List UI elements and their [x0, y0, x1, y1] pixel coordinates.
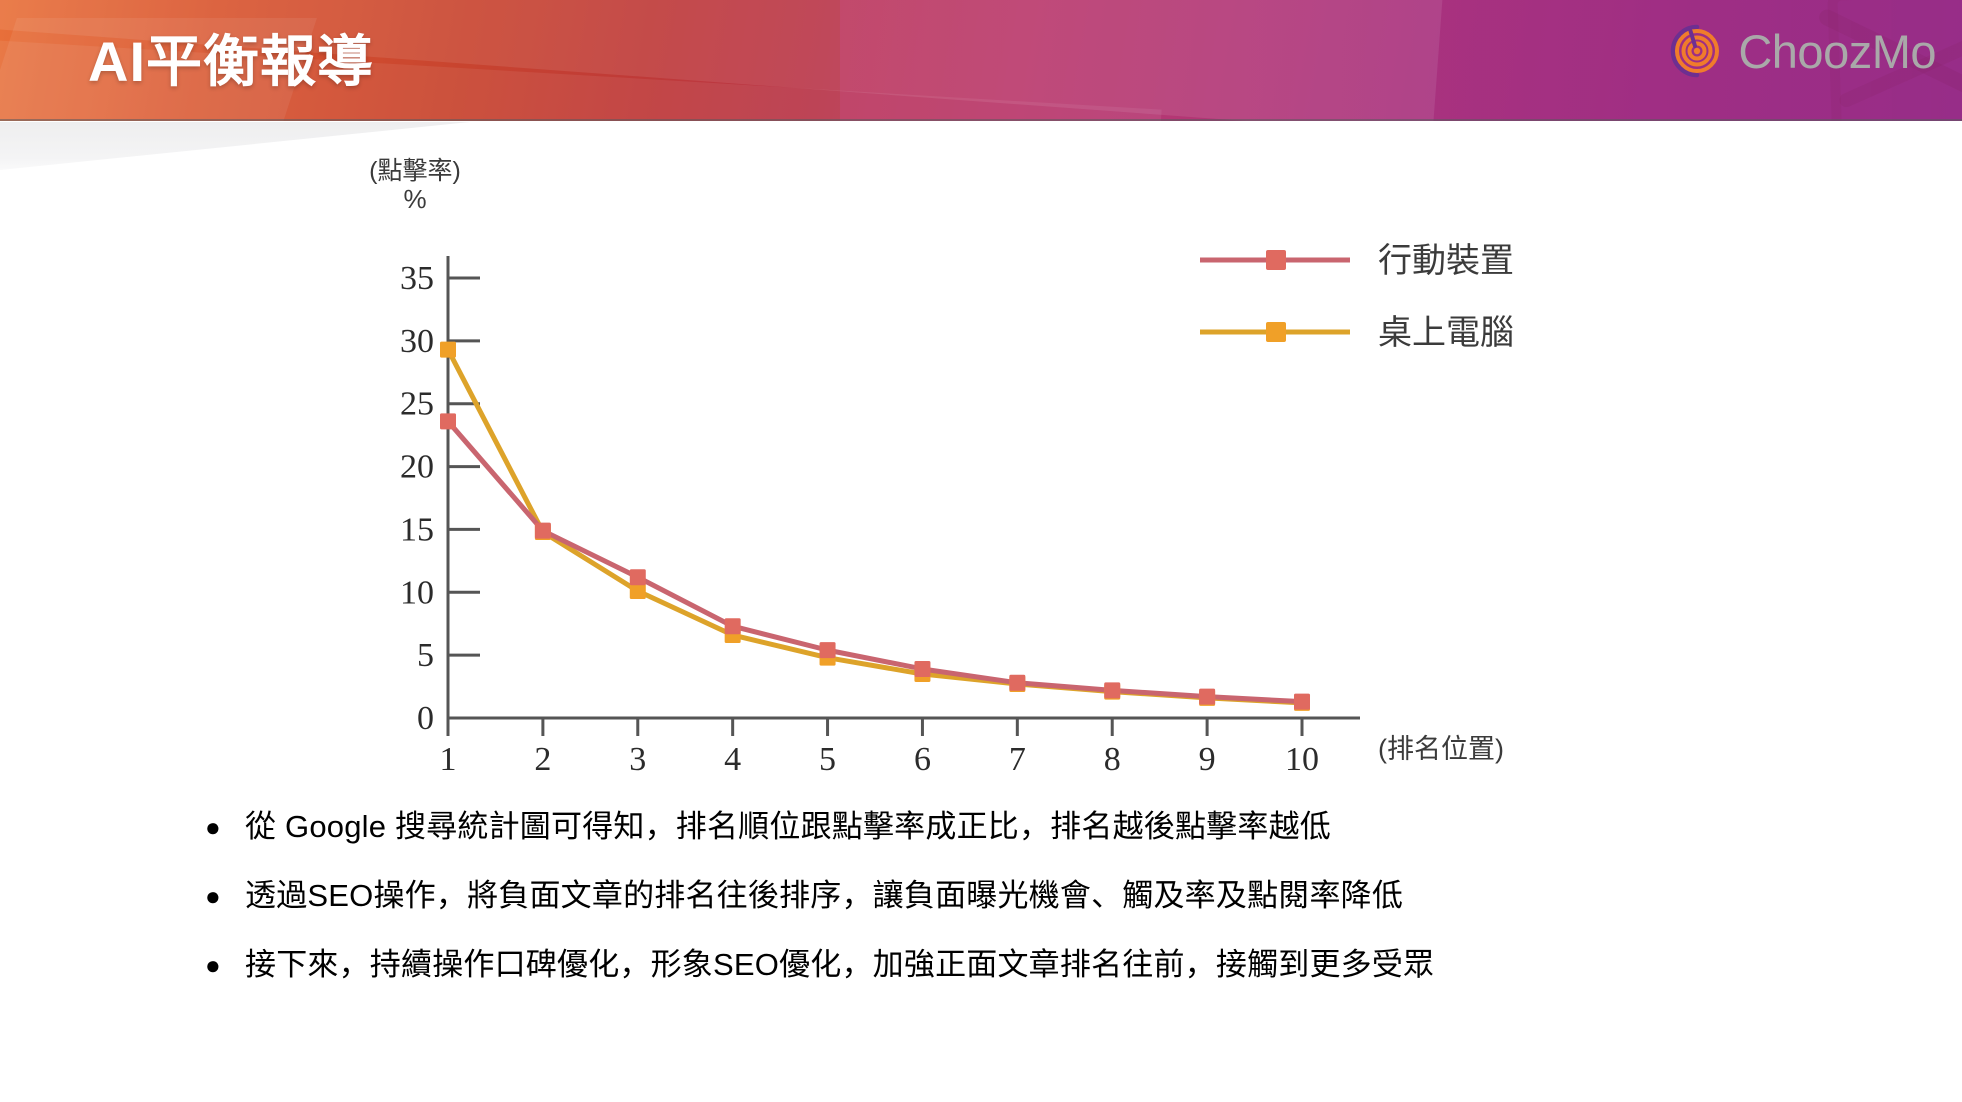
x-axis-tick-label: 6: [914, 741, 931, 778]
chart-legend: 行動裝置桌上電腦: [1200, 242, 1514, 352]
series-marker: [1294, 694, 1310, 710]
list-item: ● 接下來，持續操作口碑優化，形象SEO優化，加強正面文章排名往前，接觸到更多受…: [205, 944, 1905, 986]
y-axis-title: (點擊率) %: [355, 158, 475, 213]
spiral-target-icon: [1668, 22, 1726, 80]
series-marker: [820, 642, 836, 658]
ctr-by-rank-chart: (點擊率) % 05101520253035 12345678910 (排名位置…: [330, 170, 1590, 790]
choozmo-logo: ChoozMo: [1668, 22, 1936, 80]
x-axis-tick-label: 9: [1199, 741, 1216, 778]
y-axis-tick-label: 30: [400, 323, 434, 360]
list-item: ● 透過SEO操作，將負面文章的排名往後排序，讓負面曝光機會、觸及率及點閱率降低: [205, 875, 1905, 917]
y-axis-title-line2: %: [355, 185, 475, 213]
series-marker: [1104, 682, 1120, 698]
bullet-text: 透過SEO操作，將負面文章的排名往後排序，讓負面曝光機會、觸及率及點閱率降低: [245, 875, 1403, 917]
legend-label: 行動裝置: [1378, 242, 1514, 280]
logo-wordmark: ChoozMo: [1738, 24, 1936, 79]
x-axis-tick-label: 5: [819, 741, 836, 778]
chart-series-markers: [440, 342, 1310, 711]
header-divider: [0, 119, 1962, 121]
legend-swatch-marker: [1266, 322, 1286, 342]
series-marker: [440, 413, 456, 429]
y-axis-tick-label: 15: [400, 511, 434, 548]
series-line: [448, 350, 1302, 703]
list-item: ● 從 Google 搜尋統計圖可得知，排名順位跟點擊率成正比，排名越後點擊率越…: [205, 806, 1905, 848]
page-title: AI平衡報導: [88, 17, 374, 98]
x-axis-tick-label: 3: [629, 741, 646, 778]
series-marker: [535, 523, 551, 539]
y-axis-ticks: [448, 278, 480, 655]
slide-header-banner: AI平衡報導 ChoozMo: [0, 0, 1962, 121]
bullet-marker-icon: ●: [205, 806, 245, 845]
y-axis-tick-label: 25: [400, 386, 434, 423]
series-marker: [630, 569, 646, 585]
series-marker: [914, 661, 930, 677]
series-marker: [1009, 675, 1025, 691]
series-marker: [1199, 689, 1215, 705]
x-axis-tick-label: 4: [724, 741, 741, 778]
chart-canvas: 05101520253035 12345678910 (排名位置) 行動裝置桌上…: [330, 170, 1590, 790]
bullet-list: ● 從 Google 搜尋統計圖可得知，排名順位跟點擊率成正比，排名越後點擊率越…: [205, 806, 1905, 1013]
x-axis-tick-label: 2: [534, 741, 551, 778]
y-axis-tick-label: 35: [400, 260, 434, 297]
x-axis-tick-label: 8: [1104, 741, 1121, 778]
x-axis-ticks: [448, 718, 1302, 736]
y-axis-tick-label: 0: [417, 700, 434, 737]
bullet-text: 從 Google 搜尋統計圖可得知，排名順位跟點擊率成正比，排名越後點擊率越低: [245, 806, 1331, 848]
y-axis-tick-label: 5: [417, 637, 434, 674]
y-axis-tick-label: 20: [400, 449, 434, 486]
x-axis-title: (排名位置): [1378, 734, 1504, 764]
x-axis-tick-label: 1: [440, 741, 457, 778]
x-axis-tick-label: 10: [1285, 741, 1319, 778]
bullet-text: 接下來，持續操作口碑優化，形象SEO優化，加強正面文章排名往前，接觸到更多受眾: [245, 944, 1434, 986]
x-axis-tick-labels: 12345678910: [440, 741, 1320, 778]
bullet-marker-icon: ●: [205, 875, 245, 914]
chart-series-lines: [448, 350, 1302, 703]
series-marker: [630, 583, 646, 599]
legend-label: 桌上電腦: [1378, 314, 1514, 352]
y-axis-tick-label: 10: [400, 574, 434, 611]
series-marker: [440, 342, 456, 358]
series-line: [448, 421, 1302, 701]
x-axis-tick-label: 7: [1009, 741, 1026, 778]
y-axis-title-line1: (點擊率): [369, 157, 461, 185]
series-marker: [725, 618, 741, 634]
y-axis-tick-labels: 05101520253035: [400, 260, 434, 737]
legend-swatch-marker: [1266, 250, 1286, 270]
bullet-marker-icon: ●: [205, 944, 245, 983]
